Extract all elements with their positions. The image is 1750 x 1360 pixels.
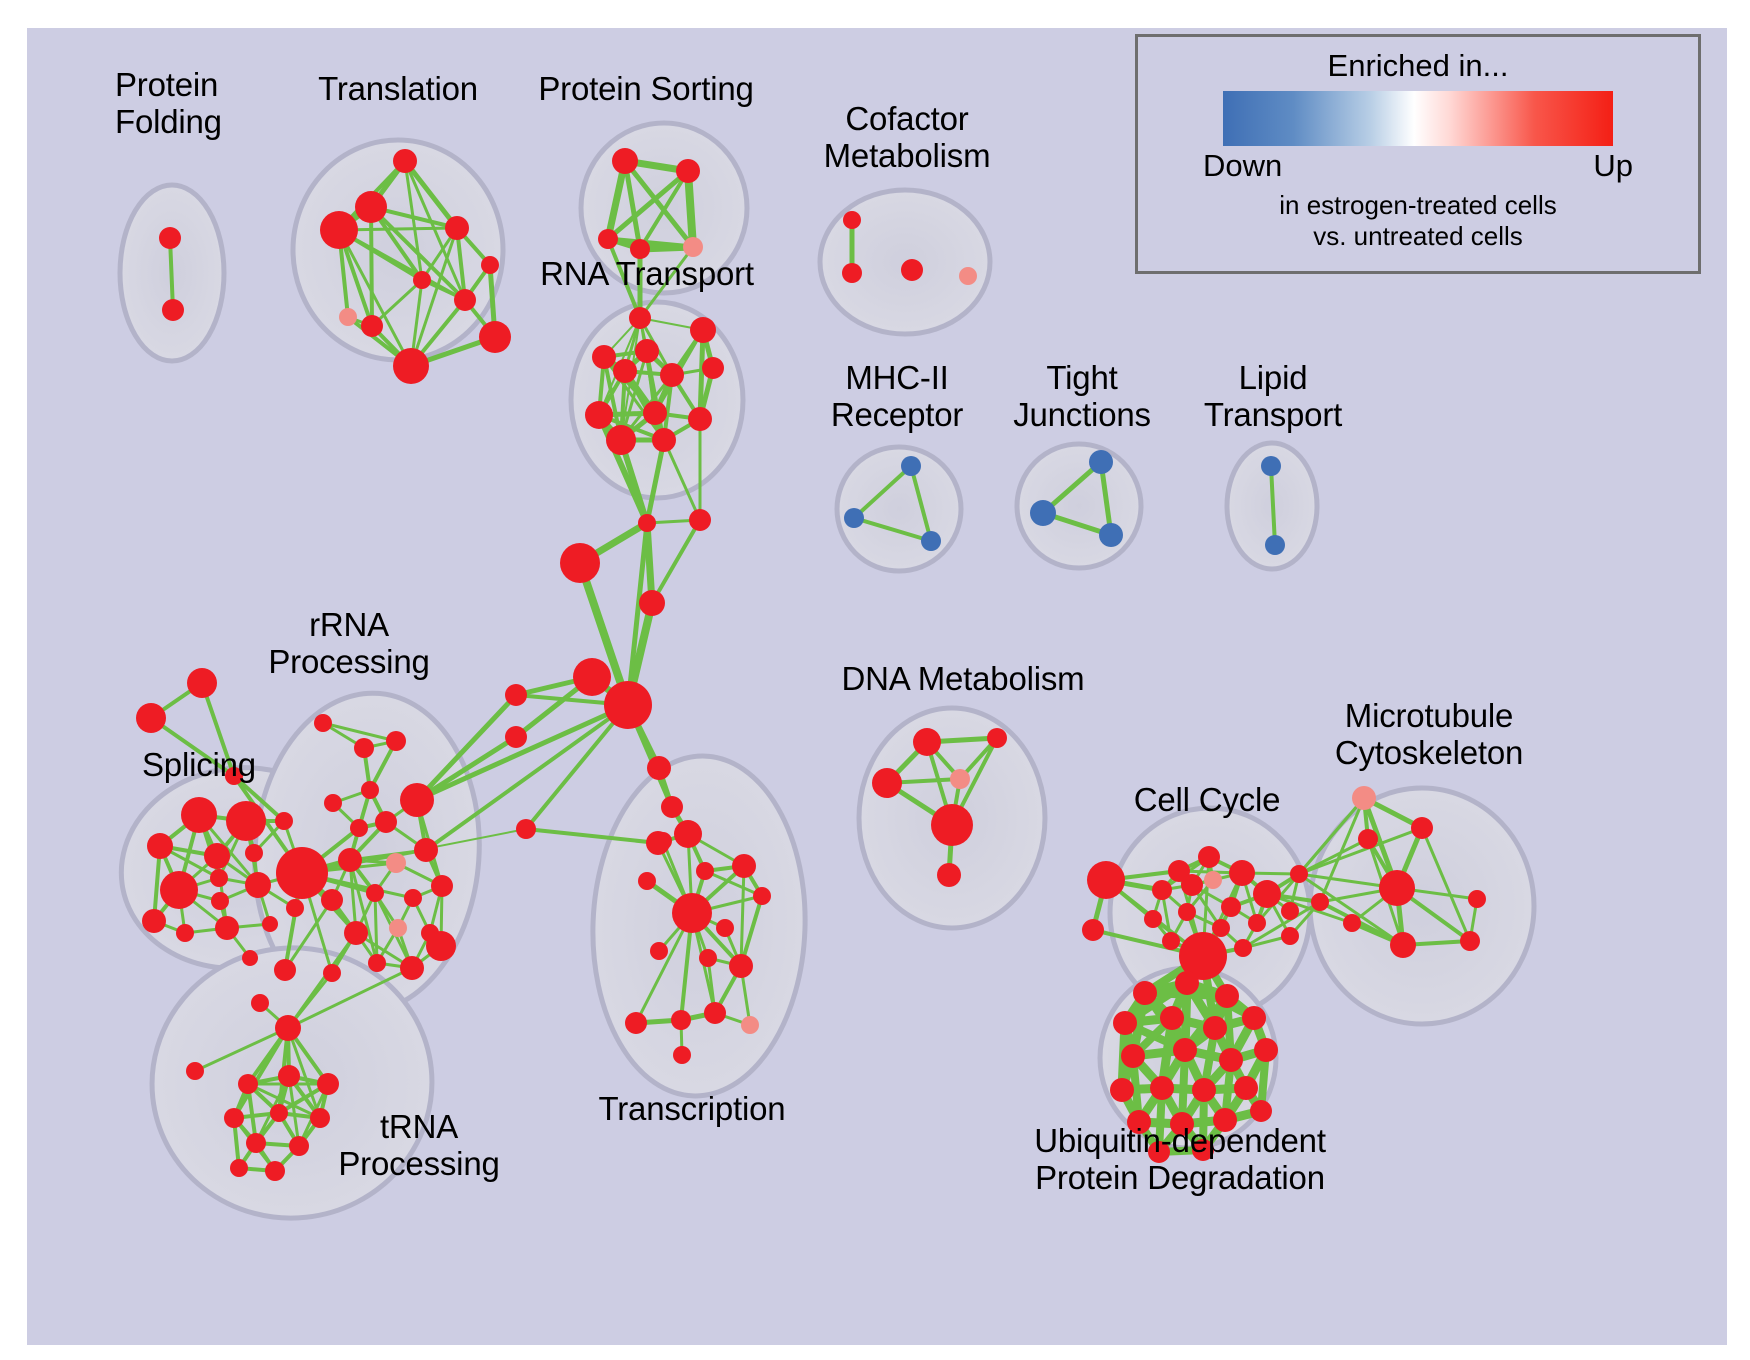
gene-set-node[interactable] [1133, 981, 1157, 1005]
gene-set-node[interactable] [1281, 902, 1299, 920]
gene-set-node[interactable] [1198, 846, 1220, 868]
gene-set-node[interactable] [368, 954, 386, 972]
gene-set-node[interactable] [431, 875, 453, 897]
gene-set-node[interactable] [1234, 1076, 1258, 1100]
gene-set-node[interactable] [142, 909, 166, 933]
gene-set-node[interactable] [1030, 500, 1056, 526]
gene-set-node[interactable] [1203, 1016, 1227, 1040]
cluster-label-translation: Translation [318, 70, 478, 107]
gene-set-node[interactable] [324, 794, 342, 812]
gene-set-node[interactable] [1087, 861, 1125, 899]
gene-set-node[interactable] [1160, 1006, 1184, 1030]
gene-set-node[interactable] [741, 1016, 759, 1034]
gene-set-node[interactable] [1192, 1078, 1216, 1102]
gene-set-node[interactable] [426, 931, 456, 961]
gene-set-node[interactable] [400, 783, 434, 817]
gene-set-node[interactable] [987, 728, 1007, 748]
gene-set-node[interactable] [732, 854, 756, 878]
network-canvas: Protein FoldingTranslationProtein Sortin… [27, 28, 1727, 1345]
gene-set-node[interactable] [688, 407, 712, 431]
gene-set-node[interactable] [314, 714, 332, 732]
edge [652, 520, 700, 603]
gene-set-node[interactable] [375, 811, 397, 833]
cluster-label-transcription: Transcription [599, 1090, 786, 1127]
gene-set-node[interactable] [671, 1010, 691, 1030]
legend-subtitle-line2: vs. untreated cells [1138, 221, 1698, 252]
legend-low-label: Down [1203, 148, 1282, 184]
gene-set-node[interactable] [505, 684, 527, 706]
gene-set-node[interactable] [683, 237, 703, 257]
gene-set-node[interactable] [323, 964, 341, 982]
gene-set-node[interactable] [1343, 914, 1361, 932]
gene-set-node[interactable] [1110, 1078, 1134, 1102]
gene-set-node[interactable] [481, 256, 499, 274]
gene-set-node[interactable] [386, 853, 406, 873]
gene-set-node[interactable] [361, 315, 383, 337]
gene-set-node[interactable] [393, 348, 429, 384]
gene-set-node[interactable] [1358, 829, 1378, 849]
cluster-label-trna-processing: tRNA Processing [338, 1108, 499, 1182]
gene-set-node[interactable] [414, 838, 438, 862]
gene-set-node[interactable] [1099, 523, 1123, 547]
gene-set-node[interactable] [901, 456, 921, 476]
gene-set-node[interactable] [604, 681, 652, 729]
gene-set-node[interactable] [516, 819, 536, 839]
gene-set-node[interactable] [454, 289, 476, 311]
gene-set-node[interactable] [704, 1002, 726, 1024]
gene-set-node[interactable] [843, 211, 861, 229]
gene-set-node[interactable] [276, 847, 328, 899]
gene-set-node[interactable] [635, 339, 659, 363]
gene-set-node[interactable] [672, 893, 712, 933]
gene-set-node[interactable] [937, 863, 961, 887]
gene-set-node[interactable] [1411, 817, 1433, 839]
gene-set-node[interactable] [689, 509, 711, 531]
gene-set-node[interactable] [321, 889, 343, 911]
gene-set-node[interactable] [245, 872, 271, 898]
gene-set-node[interactable] [339, 308, 357, 326]
gene-set-node[interactable] [404, 889, 422, 907]
gene-set-node[interactable] [251, 994, 269, 1012]
gene-set-node[interactable] [354, 738, 374, 758]
gene-set-node[interactable] [274, 959, 296, 981]
gene-set-node[interactable] [931, 804, 973, 846]
gene-set-node[interactable] [699, 949, 717, 967]
edge [371, 207, 372, 326]
gene-set-node[interactable] [278, 1065, 300, 1087]
gene-set-node[interactable] [560, 543, 600, 583]
gene-set-node[interactable] [1261, 456, 1281, 476]
gene-set-node[interactable] [389, 919, 407, 937]
cluster-label-tight-junctions: Tight Junctions [1013, 359, 1151, 433]
gene-set-node[interactable] [505, 726, 527, 748]
gene-set-node[interactable] [1113, 1011, 1137, 1035]
gene-set-node[interactable] [598, 229, 618, 249]
gene-set-node[interactable] [1311, 893, 1329, 911]
gene-set-node[interactable] [950, 769, 970, 789]
cluster-label-dna-metabolism: DNA Metabolism [842, 660, 1085, 697]
gene-set-node[interactable] [585, 401, 613, 429]
gene-set-node[interactable] [1390, 932, 1416, 958]
gene-set-node[interactable] [1152, 880, 1172, 900]
gene-set-node[interactable] [1352, 786, 1376, 810]
cluster-label-mhc-ii-receptor: MHC-II Receptor [831, 359, 963, 433]
gene-set-node[interactable] [696, 862, 714, 880]
gene-set-node[interactable] [211, 892, 229, 910]
gene-set-node[interactable] [1181, 874, 1203, 896]
gene-set-node[interactable] [638, 514, 656, 532]
gene-set-node[interactable] [160, 871, 198, 909]
gene-set-node[interactable] [344, 921, 368, 945]
gene-set-node[interactable] [573, 658, 611, 696]
gene-set-node[interactable] [1173, 1038, 1197, 1062]
gene-set-node[interactable] [1204, 871, 1222, 889]
gene-set-node[interactable] [265, 1161, 285, 1181]
gene-set-node[interactable] [162, 299, 184, 321]
gene-set-node[interactable] [652, 428, 676, 452]
gene-set-node[interactable] [286, 899, 304, 917]
gene-set-node[interactable] [842, 263, 862, 283]
gene-set-node[interactable] [1242, 1006, 1266, 1030]
gene-set-node[interactable] [1234, 939, 1252, 957]
legend-subtitle-line1: in estrogen-treated cells [1138, 190, 1698, 221]
gene-set-node[interactable] [246, 1133, 266, 1153]
gene-set-node[interactable] [647, 756, 671, 780]
gene-set-node[interactable] [204, 843, 230, 869]
gene-set-node[interactable] [245, 844, 263, 862]
gene-set-node[interactable] [921, 531, 941, 551]
gene-set-node[interactable] [338, 848, 362, 872]
gene-set-node[interactable] [289, 1136, 309, 1156]
gene-set-node[interactable] [872, 768, 902, 798]
gene-set-node[interactable] [1089, 450, 1113, 474]
gene-set-node[interactable] [224, 1108, 244, 1128]
gene-set-node[interactable] [1215, 984, 1239, 1008]
gene-set-node[interactable] [612, 148, 638, 174]
gene-set-node[interactable] [270, 1104, 288, 1122]
gene-set-node[interactable] [1265, 535, 1285, 555]
gene-set-node[interactable] [1212, 919, 1230, 937]
gene-set-node[interactable] [913, 728, 941, 756]
gene-set-node[interactable] [320, 211, 358, 249]
gene-set-node[interactable] [1379, 870, 1415, 906]
gene-set-node[interactable] [445, 216, 469, 240]
gene-set-node[interactable] [1175, 971, 1199, 995]
cluster-label-cofactor-metabolism: Cofactor Metabolism [824, 100, 991, 174]
gene-set-node[interactable] [660, 363, 684, 387]
cluster-label-cell-cycle: Cell Cycle [1134, 781, 1281, 818]
gene-set-node[interactable] [242, 950, 258, 966]
legend-gradient-bar [1223, 91, 1613, 146]
gene-set-node[interactable] [1468, 890, 1486, 908]
gene-set-node[interactable] [361, 781, 379, 799]
gene-set-node[interactable] [1150, 1076, 1174, 1100]
gene-set-node[interactable] [1219, 1048, 1243, 1072]
gene-set-node[interactable] [613, 359, 637, 383]
gene-set-node[interactable] [181, 797, 217, 833]
gene-set-node[interactable] [350, 819, 368, 837]
gene-set-node[interactable] [654, 832, 672, 850]
gene-set-node[interactable] [629, 307, 651, 329]
gene-set-node[interactable] [230, 1159, 248, 1177]
gene-set-node[interactable] [186, 1062, 204, 1080]
gene-set-node[interactable] [673, 1046, 691, 1064]
gene-set-node[interactable] [661, 796, 683, 818]
gene-set-node[interactable] [639, 590, 665, 616]
gene-set-node[interactable] [1248, 914, 1266, 932]
gene-set-node[interactable] [275, 812, 293, 830]
gene-set-node[interactable] [729, 954, 753, 978]
cluster-label-protein-sorting: Protein Sorting [538, 70, 753, 107]
gene-set-node[interactable] [643, 401, 667, 425]
gene-set-node[interactable] [702, 357, 724, 379]
gene-set-node[interactable] [317, 1073, 339, 1095]
gene-set-node[interactable] [159, 227, 181, 249]
gene-set-node[interactable] [176, 924, 194, 942]
gene-set-node[interactable] [187, 668, 217, 698]
gene-set-node[interactable] [210, 869, 228, 887]
gene-set-node[interactable] [959, 267, 977, 285]
gene-set-node[interactable] [650, 942, 668, 960]
legend-high-label: Up [1593, 148, 1633, 184]
gene-set-node[interactable] [238, 1074, 258, 1094]
gene-set-node[interactable] [275, 1015, 301, 1041]
gene-set-node[interactable] [690, 317, 716, 343]
gene-set-node[interactable] [386, 731, 406, 751]
gene-set-node[interactable] [226, 801, 266, 841]
gene-set-node[interactable] [1254, 1038, 1278, 1062]
gene-set-node[interactable] [676, 159, 700, 183]
cluster-label-splicing: Splicing [142, 746, 256, 783]
cluster-label-lipid-transport: Lipid Transport [1204, 359, 1342, 433]
legend-title: Enriched in... [1138, 48, 1698, 84]
gene-set-node[interactable] [1460, 931, 1480, 951]
cluster-label-microtubule-cytoskeleton: Microtubule Cytoskeleton [1335, 697, 1523, 771]
gene-set-node[interactable] [1121, 1044, 1145, 1068]
gene-set-node[interactable] [136, 703, 166, 733]
gene-set-node[interactable] [901, 259, 923, 281]
gene-set-node[interactable] [592, 345, 616, 369]
cluster-label-ubiquitin-protein-degradation: Ubiquitin-dependent Protein Degradation [1034, 1122, 1326, 1196]
legend-box: Enriched in... Down Up in estrogen-treat… [1135, 34, 1701, 274]
gene-set-node[interactable] [1290, 865, 1308, 883]
gene-set-node[interactable] [1253, 880, 1281, 908]
gene-set-node[interactable] [413, 271, 431, 289]
gene-set-node[interactable] [479, 321, 511, 353]
gene-set-node[interactable] [215, 916, 239, 940]
gene-set-node[interactable] [1229, 860, 1255, 886]
gene-set-node[interactable] [625, 1012, 647, 1034]
gene-set-node[interactable] [393, 149, 417, 173]
gene-set-node[interactable] [400, 956, 424, 980]
gene-set-node[interactable] [1082, 919, 1104, 941]
gene-set-node[interactable] [1144, 910, 1162, 928]
cluster-label-protein-folding: Protein Folding [115, 66, 222, 140]
gene-set-node[interactable] [147, 833, 173, 859]
gene-set-node[interactable] [753, 887, 771, 905]
gene-set-node[interactable] [606, 425, 636, 455]
gene-set-node[interactable] [716, 919, 734, 937]
gene-set-node[interactable] [1250, 1100, 1272, 1122]
gene-set-node[interactable] [366, 884, 384, 902]
gene-set-node[interactable] [355, 191, 387, 223]
legend-endpoints: Down Up [1199, 148, 1637, 184]
cluster-label-rna-transport: RNA Transport [540, 255, 754, 292]
gene-set-node[interactable] [1281, 927, 1299, 945]
gene-set-node[interactable] [310, 1108, 330, 1128]
gene-set-node[interactable] [674, 820, 702, 848]
gene-set-node[interactable] [844, 508, 864, 528]
cluster-label-rrna-processing: rRNA Processing [268, 606, 429, 680]
gene-set-node[interactable] [1178, 903, 1196, 921]
gene-set-node[interactable] [262, 916, 278, 932]
gene-set-node[interactable] [638, 872, 656, 890]
gene-set-node[interactable] [1162, 932, 1180, 950]
gene-set-node[interactable] [1221, 897, 1241, 917]
